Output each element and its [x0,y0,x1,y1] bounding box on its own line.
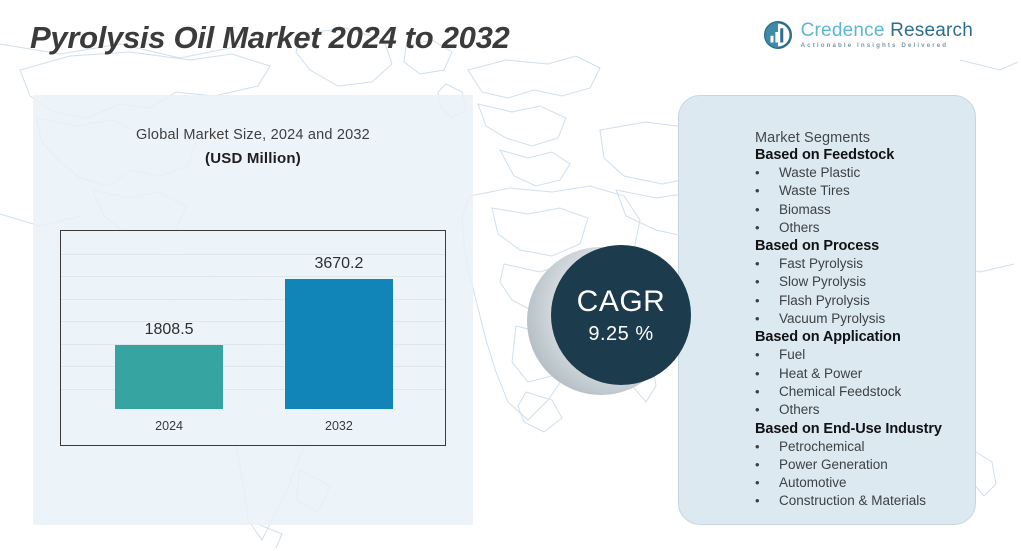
chart-heading: Global Market Size, 2024 and 2032 (USD M… [33,127,473,167]
bar-chart-circle-icon [763,20,793,50]
segment-item-label: Automotive [779,474,847,492]
segment-item-label: Vacuum Pyrolysis [779,310,885,328]
bullet-icon: • [755,401,779,419]
bullet-icon: • [755,474,779,492]
bullet-icon: • [755,201,779,219]
x-axis-label: 2024 [89,409,249,433]
bar-2024[interactable] [115,345,223,409]
logo-name-part1: Credence [801,20,885,41]
bullet-icon: • [755,456,779,474]
segment-item-label: Waste Plastic [779,164,860,182]
segment-item-label: Flash Pyrolysis [779,292,870,310]
segment-list-item[interactable]: •Flash Pyrolysis [755,292,980,310]
market-segments-content: Market Segments Based on Feedstock•Waste… [700,95,980,525]
segment-group-heading: Based on Process [755,238,980,254]
bar-chart: 1808.520243670.22032 [60,230,446,446]
bar-2032[interactable] [285,279,393,409]
segment-list-item[interactable]: •Others [755,401,980,419]
brand-logo: Credence Research Actionable Insights De… [763,20,973,50]
segment-item-label: Heat & Power [779,365,862,383]
segment-item-label: Construction & Materials [779,492,926,510]
chart-heading-line1: Global Market Size, 2024 and 2032 [33,127,473,143]
bullet-icon: • [755,365,779,383]
segment-item-label: Power Generation [779,456,888,474]
bullet-icon: • [755,182,779,200]
x-axis-label: 2032 [259,409,419,433]
segment-item-label: Others [779,401,820,419]
segment-item-label: Fuel [779,346,805,364]
bullet-icon: • [755,346,779,364]
bullet-icon: • [755,310,779,328]
segment-list-item[interactable]: •Others [755,219,980,237]
segment-list-item[interactable]: •Petrochemical [755,438,980,456]
segment-item-label: Waste Tires [779,182,850,200]
cagr-badge: CAGR 9.25 % [551,245,691,385]
segment-list-item[interactable]: •Heat & Power [755,365,980,383]
segment-list-item[interactable]: •Slow Pyrolysis [755,273,980,291]
page-title: Pyrolysis Oil Market 2024 to 2032 [30,20,510,56]
logo-name-part2: Research [890,20,973,41]
segment-list-item[interactable]: •Waste Plastic [755,164,980,182]
cagr-label: CAGR [577,285,666,319]
segment-item-label: Petrochemical [779,438,865,456]
bar-value-label: 3670.2 [259,255,419,273]
bar-group-2032: 3670.22032 [285,279,393,409]
bar-group-2024: 1808.52024 [115,345,223,409]
chart-plot-area: 1808.520243670.22032 [61,231,445,445]
bar-value-label: 1808.5 [89,321,249,339]
segment-item-label: Chemical Feedstock [779,383,901,401]
segment-list-item[interactable]: •Fuel [755,346,980,364]
logo-text-block: Credence Research Actionable Insights De… [801,21,973,49]
segment-item-label: Fast Pyrolysis [779,255,863,273]
chart-heading-line2: (USD Million) [33,150,473,167]
segment-list-item[interactable]: •Fast Pyrolysis [755,255,980,273]
segment-group-heading: Based on End-Use Industry [755,421,980,437]
segment-list-item[interactable]: •Automotive [755,474,980,492]
segment-list-item[interactable]: •Waste Tires [755,182,980,200]
segment-list-item[interactable]: •Biomass [755,201,980,219]
segment-item-label: Slow Pyrolysis [779,273,866,291]
segment-item-label: Others [779,219,820,237]
bullet-icon: • [755,383,779,401]
bullet-icon: • [755,164,779,182]
cagr-value: 9.25 % [588,323,653,346]
bullet-icon: • [755,255,779,273]
segment-list-item[interactable]: •Vacuum Pyrolysis [755,310,980,328]
logo-tagline: Actionable Insights Delivered [801,43,973,49]
market-segments-title: Market Segments [755,130,980,146]
bullet-icon: • [755,292,779,310]
segment-group-heading: Based on Feedstock [755,147,980,163]
bullet-icon: • [755,438,779,456]
bullet-icon: • [755,492,779,510]
segment-item-label: Biomass [779,201,831,219]
bullet-icon: • [755,219,779,237]
segment-list-item[interactable]: •Power Generation [755,456,980,474]
logo-name: Credence Research [801,21,973,40]
bullet-icon: • [755,273,779,291]
segment-group-heading: Based on Application [755,329,980,345]
segment-list-item[interactable]: •Chemical Feedstock [755,383,980,401]
segment-list-item[interactable]: •Construction & Materials [755,492,980,510]
